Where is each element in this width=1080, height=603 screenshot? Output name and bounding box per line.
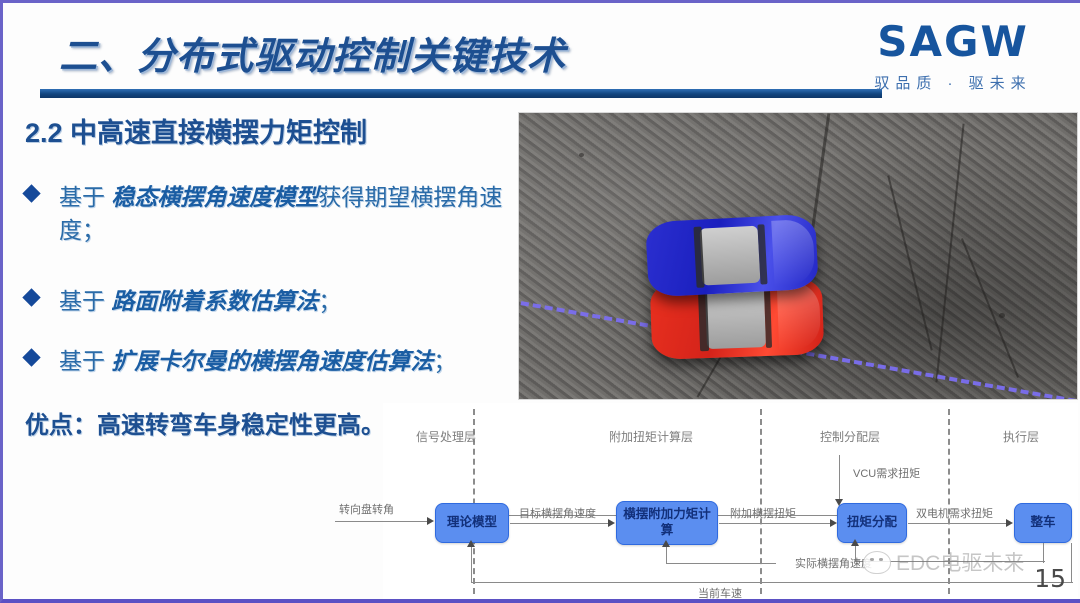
control-architecture-diagram: 信号处理层 附加扭矩计算层 控制分配层 执行层 转向盘转角 理论模型 目标横摆角… <box>383 403 1078 599</box>
node-yaw-moment-calc[interactable]: 横摆附加力矩计算 <box>616 501 718 545</box>
bullet-text: 基于 扩展卡尔曼的横摆角速度估算法； <box>59 345 505 378</box>
signal-line <box>719 523 832 524</box>
logo-wordmark: SAGW <box>848 21 1058 63</box>
arrow-head <box>467 540 475 547</box>
layer-label: 控制分配层 <box>820 428 880 445</box>
signal-line <box>510 523 610 524</box>
arrow-head <box>427 517 434 525</box>
signal-label: 当前车速 <box>698 585 742 601</box>
signal-line <box>335 521 429 522</box>
feedback-line <box>1043 543 1044 563</box>
bullet-emphasis: 扩展卡尔曼的横摆角速度估算法 <box>111 348 433 374</box>
bullet-lead: 基于 <box>59 184 111 210</box>
blue-car <box>645 214 819 298</box>
node-theory-model[interactable]: 理论模型 <box>435 503 509 543</box>
signal-label: 目标横摆角速度 <box>519 505 596 521</box>
bullet-tail: ； <box>318 288 341 314</box>
layer-label: 信号处理层 <box>416 428 476 445</box>
layer-label: 执行层 <box>1003 428 1039 445</box>
bullet-lead: 基于 <box>59 348 111 374</box>
bullet-text: 基于 路面附着系数估算法； <box>59 285 505 318</box>
bullet-item: 基于 稳态横摆角速度模型获得期望横摆角速度； <box>25 181 505 248</box>
signal-label: 实际横摆角速度 <box>795 555 872 571</box>
node-vehicle[interactable]: 整车 <box>1014 503 1072 543</box>
car-hood <box>771 218 815 286</box>
bullet-lead: 基于 <box>59 288 111 314</box>
arrow-head <box>662 540 670 547</box>
signal-label: 转向盘转角 <box>339 501 394 517</box>
signal-label: 双电机需求扭矩 <box>916 505 993 521</box>
page-number: 15 <box>1034 564 1066 593</box>
section-heading: 2.2 中高速直接横摆力矩控制 <box>25 111 367 150</box>
page-title: 二、分布式驱动控制关键技术 <box>59 25 566 80</box>
asphalt-crack <box>961 238 1019 378</box>
bullet-emphasis: 稳态横摆角速度模型 <box>111 184 318 210</box>
bullet-item: 基于 扩展卡尔曼的横摆角速度估算法； <box>25 345 505 378</box>
arrow-head <box>851 539 859 546</box>
layer-divider <box>760 409 762 594</box>
bullet-text: 基于 稳态横摆角速度模型获得期望横摆角速度； <box>59 181 505 248</box>
asphalt-speck <box>999 313 1005 318</box>
merit-text: 优点：高速转弯车身稳定性更高。 <box>25 405 385 440</box>
signal-line <box>839 455 840 503</box>
car-hood <box>777 281 821 351</box>
bullet-tail: ； <box>433 348 456 374</box>
signal-label: 附加横摆扭矩 <box>730 505 796 521</box>
arrow-head <box>830 519 837 527</box>
feedback-line <box>855 561 1045 562</box>
asphalt-crack <box>811 113 831 232</box>
car-roof <box>705 287 766 348</box>
title-underline-bar <box>40 89 882 98</box>
diamond-bullet-icon <box>22 184 40 202</box>
asphalt-speck <box>579 153 584 157</box>
diamond-bullet-icon <box>22 348 40 366</box>
vehicle-overhead-photo <box>518 112 1078 400</box>
logo-tagline: 驭品质 · 驱未来 <box>848 72 1058 93</box>
layer-label: 附加扭矩计算层 <box>609 428 693 445</box>
car-roof <box>700 226 761 286</box>
feedback-line <box>666 563 776 564</box>
arrow-head <box>1006 519 1013 527</box>
asphalt-crack <box>935 124 964 383</box>
arrow-head <box>608 519 615 527</box>
feedback-line <box>471 582 1073 583</box>
node-torque-distribution[interactable]: 扭矩分配 <box>837 503 907 543</box>
feedback-line <box>666 546 667 564</box>
layer-divider <box>948 409 950 594</box>
brand-logo: SAGW 驭品质 · 驱未来 <box>848 21 1058 93</box>
signal-line <box>908 523 1008 524</box>
car-rear-window <box>763 286 772 349</box>
bullet-emphasis: 路面附着系数估算法 <box>111 288 318 314</box>
feedback-line <box>1071 543 1072 583</box>
slide: 二、分布式驱动控制关键技术 SAGW 驭品质 · 驱未来 2.2 中高速直接横摆… <box>0 0 1080 603</box>
diamond-bullet-icon <box>22 288 40 306</box>
asphalt-crack <box>887 175 932 350</box>
bullet-item: 基于 路面附着系数估算法； <box>25 285 505 318</box>
signal-label: VCU需求扭矩 <box>853 465 920 481</box>
feedback-line <box>471 546 472 583</box>
